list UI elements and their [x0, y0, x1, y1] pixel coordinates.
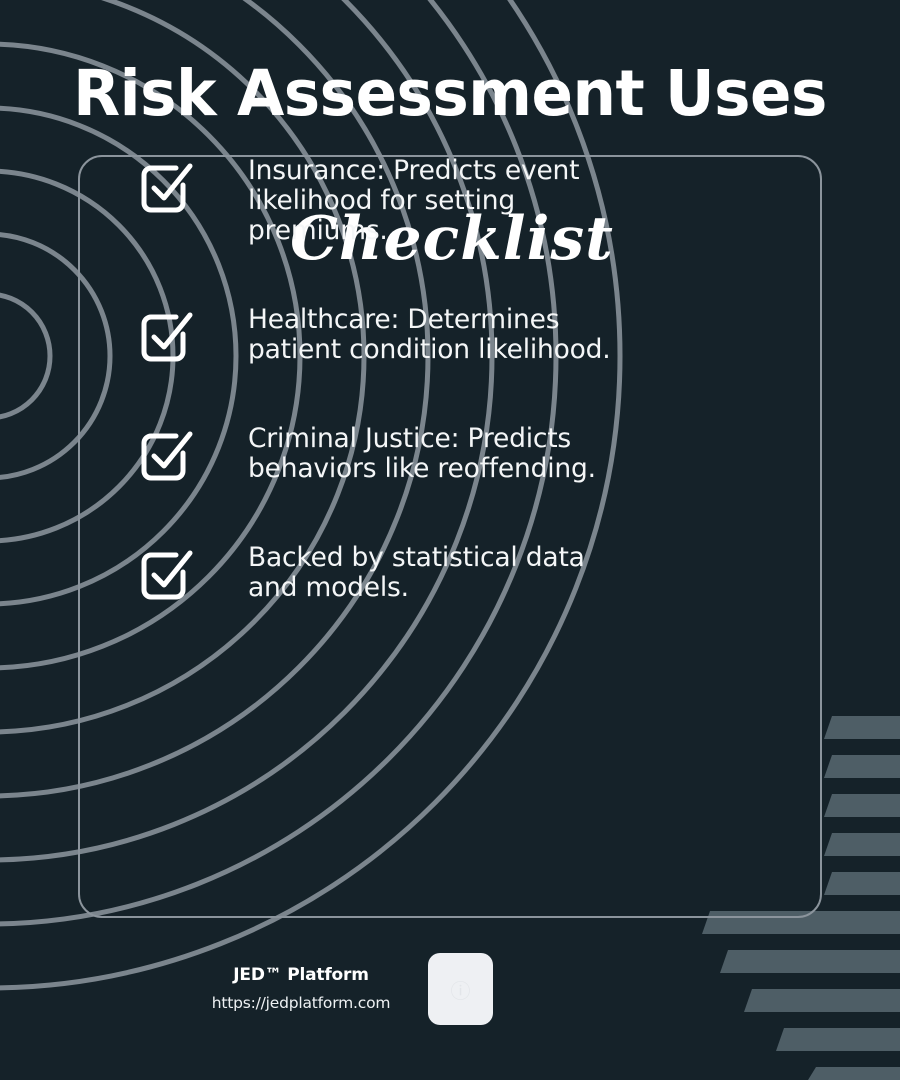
list-item-label: Criminal Justice: Predicts behaviors lik…	[248, 423, 718, 484]
checkbox-checked-icon[interactable]	[138, 546, 196, 604]
footer-text-block: JED™ Platform https://jedplatform.com	[196, 966, 406, 1013]
list-item[interactable]: Insurance: Predicts event likelihood for…	[138, 155, 718, 247]
poster-canvas: Risk Assessment Uses Checklist Insurance…	[0, 0, 900, 1080]
list-item-label: Insurance: Predicts event likelihood for…	[248, 155, 718, 247]
checkbox-checked-icon[interactable]	[138, 427, 196, 485]
page-title: Risk Assessment Uses	[14, 62, 887, 125]
list-item-label: Backed by statistical data and models.	[248, 542, 718, 603]
brand-url[interactable]: https://jedplatform.com	[196, 995, 406, 1012]
list-item[interactable]: Healthcare: Determines patient condition…	[138, 304, 718, 366]
list-item[interactable]: Criminal Justice: Predicts behaviors lik…	[138, 423, 718, 485]
brand-logo-tile: ⓘ	[428, 953, 493, 1025]
list-item[interactable]: Backed by statistical data and models.	[138, 542, 718, 604]
footer: JED™ Platform https://jedplatform.com ⓘ	[196, 953, 516, 1025]
list-item-label: Healthcare: Determines patient condition…	[248, 304, 718, 365]
checkbox-checked-icon[interactable]	[138, 159, 196, 217]
checklist: Insurance: Predicts event likelihood for…	[138, 155, 718, 604]
checkbox-checked-icon[interactable]	[138, 308, 196, 366]
brand-name: JED™ Platform	[196, 966, 406, 985]
brand-logo-glyph: ⓘ	[428, 953, 493, 1025]
